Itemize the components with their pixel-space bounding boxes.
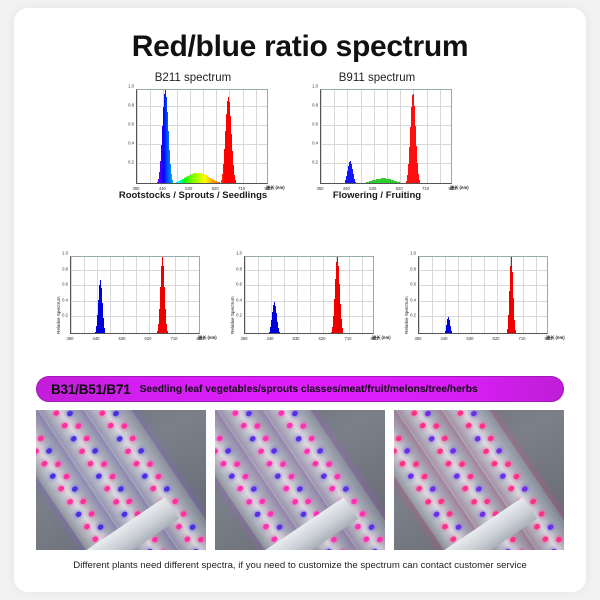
y-axis-tick: 0.2: [410, 313, 416, 318]
red-led-dot: [107, 422, 115, 430]
red-led-dot: [74, 422, 82, 430]
series-red-peak: [71, 257, 200, 334]
blue-led-dot: [163, 485, 171, 493]
red-led-dot: [83, 435, 91, 443]
red-led-dot: [542, 536, 550, 544]
blue-led-dot: [424, 410, 432, 417]
y-axis-tick: 0.2: [312, 160, 318, 165]
y-axis-tick: 0.2: [62, 313, 68, 318]
red-led-dot: [563, 548, 564, 550]
x-axis-tick: 530: [119, 336, 126, 341]
x-axis-label: 波长 (nm): [546, 335, 565, 341]
series-red-peak: [419, 257, 548, 334]
red-led-dot: [411, 410, 419, 417]
blue-led-dot: [141, 473, 149, 481]
red-led-dot: [441, 523, 449, 531]
red-led-dot: [278, 410, 286, 417]
x-axis-tick: 350: [317, 186, 324, 191]
blue-led-dot: [96, 523, 104, 531]
red-led-dot: [54, 460, 62, 468]
red-led-dot: [36, 447, 40, 455]
red-led-dot: [88, 510, 96, 518]
red-led-dot: [287, 473, 295, 481]
red-led-dot: [99, 410, 107, 417]
series-red-peak: [321, 90, 452, 184]
x-axis-tick: 710: [519, 336, 526, 341]
footer-note: Different plants need different spectra,…: [14, 560, 586, 571]
blue-led-dot: [546, 523, 554, 531]
y-axis-label: Relative Spectrum: [56, 296, 61, 334]
red-led-dot: [395, 435, 403, 443]
red-led-dot: [483, 498, 491, 506]
blue-led-dot: [470, 410, 478, 417]
blue-led-dot: [137, 447, 145, 455]
red-led-dot: [517, 548, 525, 550]
red-led-dot: [233, 460, 241, 468]
red-led-dot: [266, 460, 274, 468]
x-axis-tick: 440: [441, 336, 448, 341]
x-axis-tick: 620: [319, 336, 326, 341]
red-led-dot: [37, 435, 45, 443]
x-axis-tick: 710: [238, 186, 245, 191]
red-led-dot: [416, 485, 424, 493]
model-banner: B31/B51/B71 Seedling leaf vegetables/spr…: [36, 376, 564, 402]
red-led-dot: [329, 485, 337, 493]
red-led-dot: [470, 498, 478, 506]
x-axis-tick: 350: [415, 336, 422, 341]
y-axis-tick: 0.4: [128, 141, 134, 146]
series-red-peak: [245, 257, 374, 334]
red-led-dot: [66, 498, 74, 506]
chart-b911-spectrum: B911 spectrum0.20.40.60.81.0350440530620…: [302, 72, 452, 201]
x-axis-tick: 530: [185, 186, 192, 191]
blue-led-dot: [403, 447, 411, 455]
blue-led-dot: [296, 485, 304, 493]
red-led-dot: [286, 422, 294, 430]
red-led-dot: [150, 485, 158, 493]
series-red-peak: [137, 90, 268, 184]
chart-caption: Rootstocks / Sprouts / Seedlings: [118, 190, 268, 201]
banner-description-label: Seedling leaf vegetables/sprouts classes…: [140, 384, 478, 395]
y-axis-tick: 0.8: [128, 103, 134, 108]
red-led-dot: [184, 536, 192, 544]
chart-b51-spectrum: 0.20.40.60.81.0350440530620710800波长 (nm)…: [218, 256, 374, 334]
red-led-dot: [257, 447, 265, 455]
y-axis-tick: 0.6: [62, 282, 68, 287]
red-led-dot: [299, 422, 307, 430]
red-led-dot: [159, 548, 167, 550]
red-led-dot: [241, 473, 249, 481]
plot-area: [418, 256, 548, 334]
red-led-dot: [512, 473, 520, 481]
blue-led-dot: [295, 435, 303, 443]
red-led-dot: [458, 460, 466, 468]
red-led-dot: [354, 523, 362, 531]
red-led-dot: [62, 473, 70, 481]
y-axis-tick: 1.0: [410, 251, 416, 256]
red-led-dot: [267, 510, 275, 518]
red-led-dot: [175, 523, 183, 531]
blue-led-dot: [475, 485, 483, 493]
plot-area: [70, 256, 200, 334]
x-axis-tick: 710: [422, 186, 429, 191]
y-axis-tick: 0.8: [236, 266, 242, 271]
blue-led-dot: [479, 510, 487, 518]
y-axis-tick: 0.6: [128, 122, 134, 127]
blue-led-dot: [428, 435, 436, 443]
red-led-dot: [325, 460, 333, 468]
plot-area: [136, 89, 268, 184]
blue-led-dot: [121, 510, 129, 518]
y-axis-label: Relative Spectrum: [404, 296, 409, 334]
red-led-dot: [462, 485, 470, 493]
red-led-dot: [232, 410, 240, 417]
blue-led-dot: [188, 523, 196, 531]
blue-led-dot: [300, 510, 308, 518]
red-led-dot: [419, 422, 427, 430]
x-axis-tick: 440: [267, 336, 274, 341]
chart-b211-spectrum: B211 spectrum0.20.40.60.81.0350440530620…: [118, 72, 268, 201]
y-axis-tick: 0.4: [236, 297, 242, 302]
y-axis-tick: 1.0: [128, 84, 134, 89]
blue-led-dot: [325, 548, 333, 550]
red-led-dot: [487, 435, 495, 443]
red-led-dot: [399, 460, 407, 468]
red-led-dot: [441, 435, 449, 443]
blue-led-dot: [71, 485, 79, 493]
blue-led-dot: [254, 510, 262, 518]
red-led-dot: [283, 485, 291, 493]
red-led-dot: [146, 460, 154, 468]
x-axis-tick: 350: [67, 336, 74, 341]
blue-led-dot: [407, 473, 415, 481]
red-led-dot: [478, 422, 486, 430]
y-axis-tick: 0.6: [410, 282, 416, 287]
blue-led-dot: [316, 447, 324, 455]
red-led-dot: [412, 460, 420, 468]
blue-led-dot: [342, 485, 350, 493]
red-led-dot: [87, 460, 95, 468]
red-led-dot: [104, 485, 112, 493]
chart-title: B211 spectrum: [118, 72, 268, 84]
y-axis-tick: 0.2: [236, 313, 242, 318]
blue-led-dot: [371, 548, 379, 550]
blue-led-dot: [146, 548, 154, 550]
red-led-dot: [245, 498, 253, 506]
product-photo-row: [36, 410, 564, 550]
red-led-dot: [58, 485, 66, 493]
blue-led-dot: [75, 510, 83, 518]
x-axis-tick: 620: [493, 336, 500, 341]
blue-led-dot: [291, 410, 299, 417]
red-led-dot: [220, 460, 228, 468]
plot-area: [320, 89, 452, 184]
blue-led-dot: [224, 447, 232, 455]
blue-led-dot: [429, 485, 437, 493]
blue-led-dot: [66, 410, 74, 417]
y-axis-label: Relative Spectrum: [230, 296, 235, 334]
y-axis-tick: 0.8: [410, 266, 416, 271]
x-axis-tick: 710: [345, 336, 352, 341]
x-axis-tick: 440: [343, 186, 350, 191]
blue-led-dot: [320, 473, 328, 481]
red-led-dot: [154, 473, 162, 481]
red-led-dot: [359, 510, 367, 518]
red-led-dot: [215, 447, 219, 455]
red-led-dot: [437, 498, 445, 506]
blue-led-dot: [275, 523, 283, 531]
x-axis-label: 波长 (nm): [372, 335, 391, 341]
red-led-dot: [125, 498, 133, 506]
x-axis-tick: 440: [159, 186, 166, 191]
blue-led-dot: [91, 447, 99, 455]
red-led-dot: [279, 460, 287, 468]
blue-led-dot: [95, 473, 103, 481]
blue-led-dot: [367, 523, 375, 531]
y-axis-tick: 0.6: [312, 122, 318, 127]
red-led-dot: [41, 460, 49, 468]
x-axis-tick: 440: [93, 336, 100, 341]
red-led-dot: [171, 498, 179, 506]
red-led-dot: [83, 523, 91, 531]
x-axis-tick: 350: [133, 186, 140, 191]
red-led-dot: [262, 523, 270, 531]
chart-title: B911 spectrum: [302, 72, 452, 84]
blue-led-dot: [449, 447, 457, 455]
red-led-dot: [538, 510, 546, 518]
y-axis-tick: 0.4: [410, 297, 416, 302]
blue-led-dot: [112, 410, 120, 417]
red-led-dot: [555, 536, 563, 544]
red-led-dot: [333, 473, 341, 481]
blue-led-dot: [192, 548, 200, 550]
x-axis-tick: 530: [369, 186, 376, 191]
red-led-dot: [79, 498, 87, 506]
red-led-dot: [436, 447, 444, 455]
blue-led-dot: [504, 548, 512, 550]
red-led-dot: [338, 548, 346, 550]
red-led-dot: [120, 422, 128, 430]
red-led-dot: [491, 460, 499, 468]
red-led-dot: [446, 510, 454, 518]
x-axis-tick: 620: [145, 336, 152, 341]
y-axis-tick: 0.6: [236, 282, 242, 287]
chart-b71-spectrum: 0.20.40.60.81.0350440530620710800波长 (nm)…: [392, 256, 548, 334]
y-axis-tick: 1.0: [312, 84, 318, 89]
red-led-dot: [394, 447, 398, 455]
blue-led-dot: [433, 510, 441, 518]
blue-led-dot: [250, 485, 258, 493]
red-led-dot: [53, 410, 61, 417]
chart-b31-spectrum: 0.20.40.60.81.0350440530620710800波长 (nm)…: [44, 256, 200, 334]
x-axis-label: 波长 (nm): [450, 185, 469, 191]
red-led-dot: [312, 460, 320, 468]
blue-led-dot: [454, 523, 462, 531]
red-led-dot: [432, 422, 440, 430]
x-axis-tick: 620: [212, 186, 219, 191]
red-led-dot: [216, 435, 224, 443]
blue-led-dot: [474, 435, 482, 443]
blue-led-dot: [249, 435, 257, 443]
blue-led-dot: [116, 435, 124, 443]
red-led-dot: [445, 460, 453, 468]
x-axis-tick: 530: [293, 336, 300, 341]
red-led-dot: [253, 422, 261, 430]
banner-model-label: B31/B51/B71: [51, 382, 131, 397]
blue-led-dot: [499, 473, 507, 481]
y-axis-tick: 0.8: [312, 103, 318, 108]
red-led-dot: [384, 548, 385, 550]
red-led-dot: [508, 485, 516, 493]
red-led-dot: [262, 435, 270, 443]
blue-led-dot: [49, 473, 57, 481]
red-led-dot: [129, 435, 137, 443]
blue-led-dot: [453, 473, 461, 481]
red-led-dot: [100, 460, 108, 468]
red-led-dot: [420, 473, 428, 481]
red-led-dot: [78, 447, 86, 455]
x-axis-label: 波长 (nm): [266, 185, 285, 191]
red-led-dot: [533, 523, 541, 531]
blue-led-dot: [274, 473, 282, 481]
led-grow-tube-photo-3: [394, 410, 564, 550]
red-led-dot: [237, 485, 245, 493]
y-axis-tick: 0.8: [62, 266, 68, 271]
plot-area: [244, 256, 374, 334]
red-led-dot: [482, 447, 490, 455]
red-led-dot: [133, 460, 141, 468]
red-led-dot: [205, 548, 206, 550]
red-led-dot: [180, 510, 188, 518]
red-led-dot: [424, 498, 432, 506]
blue-led-dot: [270, 447, 278, 455]
red-led-dot: [108, 473, 116, 481]
y-axis-tick: 0.4: [312, 141, 318, 146]
red-led-dot: [258, 498, 266, 506]
red-led-dot: [466, 473, 474, 481]
red-led-dot: [112, 498, 120, 506]
red-led-dot: [504, 460, 512, 468]
red-led-dot: [197, 536, 205, 544]
led-grow-tube-photo-2: [215, 410, 385, 550]
blue-led-dot: [70, 435, 78, 443]
y-axis-tick: 1.0: [62, 251, 68, 256]
y-axis-tick: 1.0: [236, 251, 242, 256]
x-axis-tick: 350: [241, 336, 248, 341]
red-led-dot: [240, 422, 248, 430]
x-axis-tick: 710: [171, 336, 178, 341]
x-axis-tick: 530: [467, 336, 474, 341]
y-axis-tick: 0.2: [128, 160, 134, 165]
red-led-dot: [308, 435, 316, 443]
x-axis-label: 波长 (nm): [198, 335, 217, 341]
red-led-dot: [304, 498, 312, 506]
red-led-dot: [529, 498, 537, 506]
product-spec-card: Red/blue ratio spectrum B31/B51/B71 Seed…: [14, 8, 586, 592]
red-led-dot: [376, 536, 384, 544]
red-led-dot: [303, 447, 311, 455]
blue-led-dot: [245, 410, 253, 417]
x-axis-tick: 620: [396, 186, 403, 191]
red-led-dot: [124, 447, 132, 455]
led-grow-tube-photo-1: [36, 410, 206, 550]
blue-led-dot: [550, 548, 558, 550]
blue-led-dot: [521, 485, 529, 493]
page-title: Red/blue ratio spectrum: [14, 30, 586, 64]
blue-led-dot: [45, 447, 53, 455]
red-led-dot: [291, 498, 299, 506]
chart-caption: Flowering / Fruiting: [302, 190, 452, 201]
y-axis-tick: 0.4: [62, 297, 68, 302]
red-led-dot: [350, 498, 358, 506]
red-led-dot: [465, 422, 473, 430]
blue-led-dot: [117, 485, 125, 493]
red-led-dot: [457, 410, 465, 417]
red-led-dot: [363, 536, 371, 544]
blue-led-dot: [495, 447, 503, 455]
blue-led-dot: [228, 473, 236, 481]
red-led-dot: [61, 422, 69, 430]
